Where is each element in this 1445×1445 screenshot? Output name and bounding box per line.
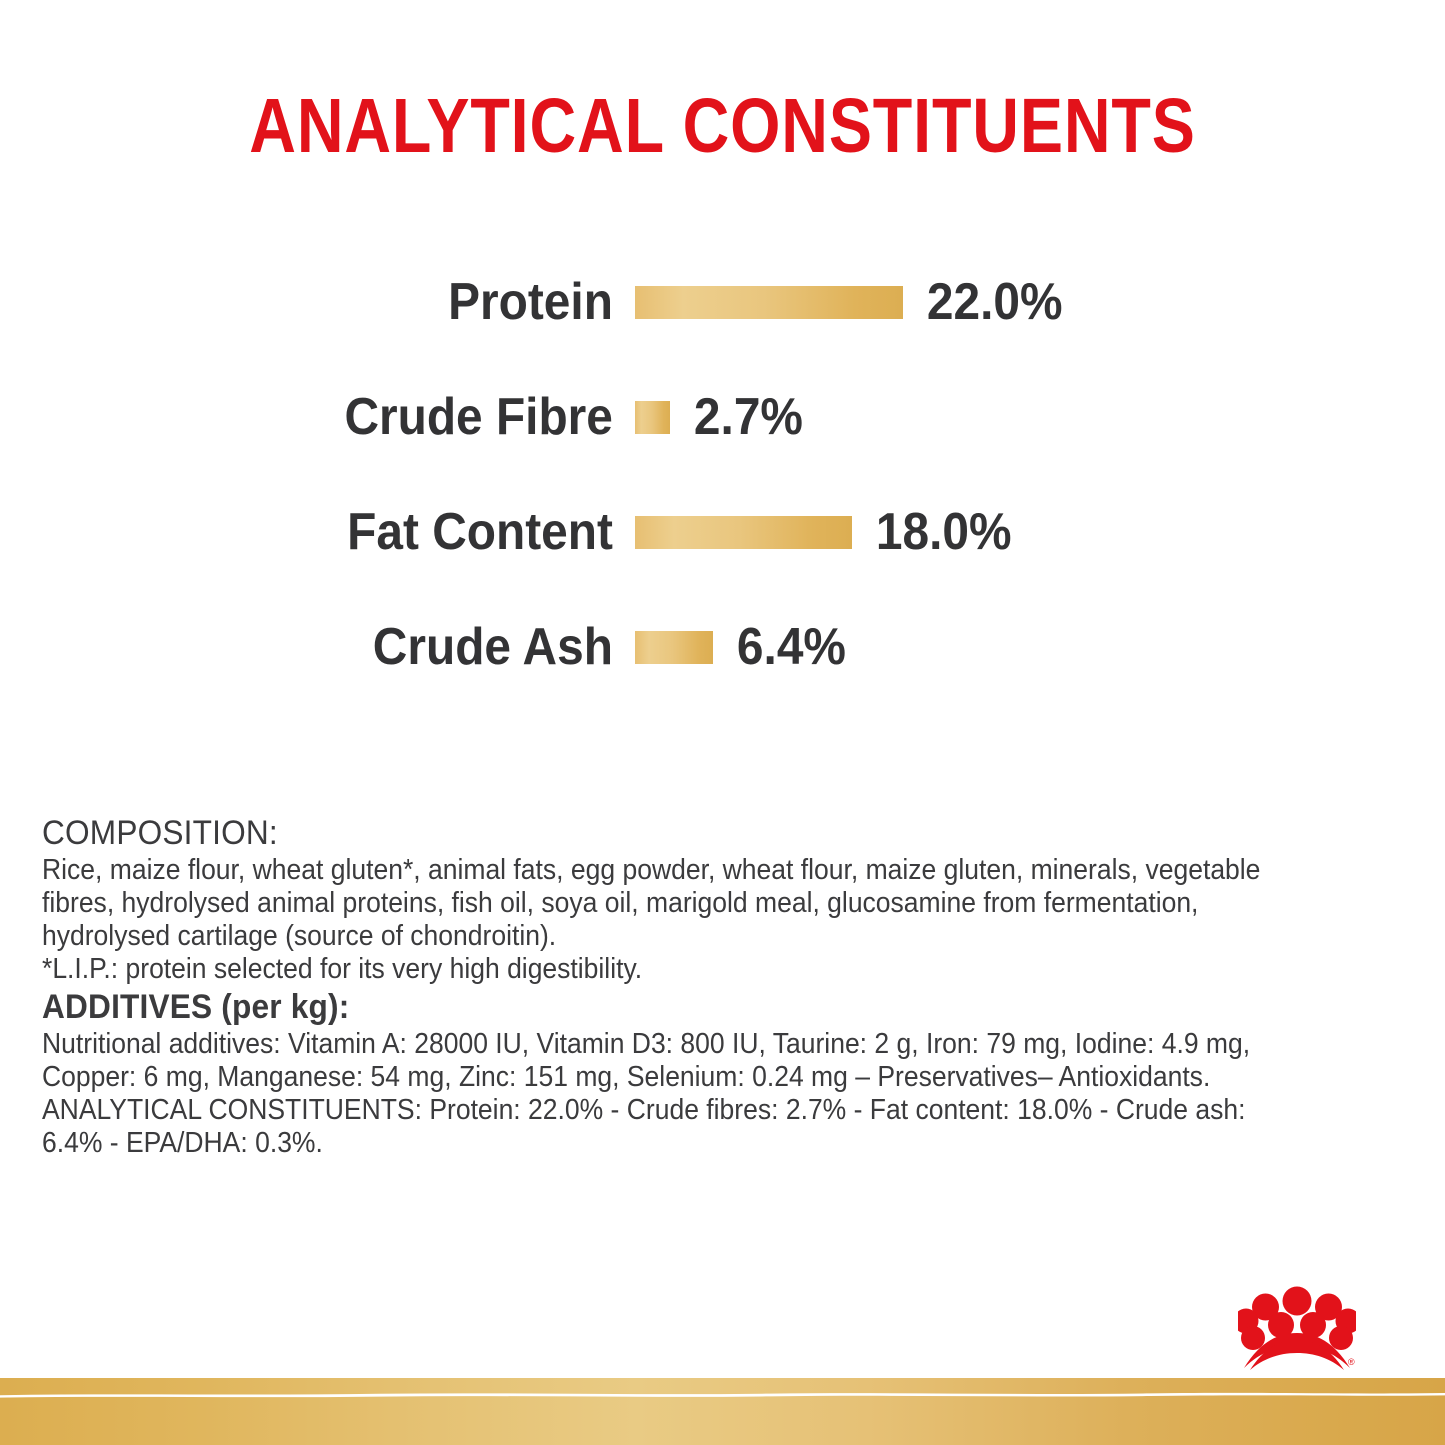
registered-trademark-icon: ® (1348, 1357, 1355, 1367)
bar-wrap-fat-content: 18.0% (635, 504, 1025, 560)
bar-label-fat-content: Fat Content (51, 504, 635, 560)
brush-stroke-icon (0, 1391, 1445, 1398)
additives-heading: ADDITIVES (per kg): (42, 986, 1279, 1028)
chart-row-fat-content: Fat Content 18.0% (0, 502, 1445, 562)
chart-row-protein: Protein 22.0% (0, 272, 1445, 332)
composition-heading: COMPOSITION: (42, 812, 1279, 854)
analytical-constituents-chart: Protein 22.0% Crude Fibre 2.7% Fat Conte… (0, 272, 1445, 732)
composition-footnote: *L.I.P.: protein selected for its very h… (42, 953, 1279, 986)
bar-crude-fibre (635, 401, 670, 434)
bar-wrap-protein: 22.0% (635, 274, 1076, 330)
bar-wrap-crude-ash: 6.4% (635, 619, 858, 675)
page-title: ANALYTICAL CONSTITUENTS (116, 84, 1330, 168)
bar-fat-content (635, 516, 852, 549)
additives-nutritional: Nutritional additives: Vitamin A: 28000 … (42, 1028, 1279, 1094)
chart-row-crude-fibre: Crude Fibre 2.7% (0, 387, 1445, 447)
bar-label-crude-fibre: Crude Fibre (51, 389, 635, 445)
bar-value-crude-ash: 6.4% (713, 619, 846, 675)
bar-protein (635, 286, 903, 319)
bar-value-protein: 22.0% (903, 274, 1063, 330)
additives-analytical: ANALYTICAL CONSTITUENTS: Protein: 22.0% … (42, 1094, 1279, 1160)
royal-canin-crown-logo: ® (1238, 1286, 1356, 1372)
bar-crude-ash (635, 631, 713, 664)
bar-value-crude-fibre: 2.7% (670, 389, 803, 445)
bar-label-protein: Protein (51, 274, 635, 330)
bar-label-crude-ash: Crude Ash (51, 619, 635, 675)
composition-body: Rice, maize flour, wheat gluten*, animal… (42, 854, 1279, 953)
bar-value-fat-content: 18.0% (852, 504, 1012, 560)
product-information-text: COMPOSITION: Rice, maize flour, wheat gl… (42, 812, 1279, 1160)
bottom-gold-band (0, 1378, 1445, 1445)
chart-row-crude-ash: Crude Ash 6.4% (0, 617, 1445, 677)
bar-wrap-crude-fibre: 2.7% (635, 389, 815, 445)
